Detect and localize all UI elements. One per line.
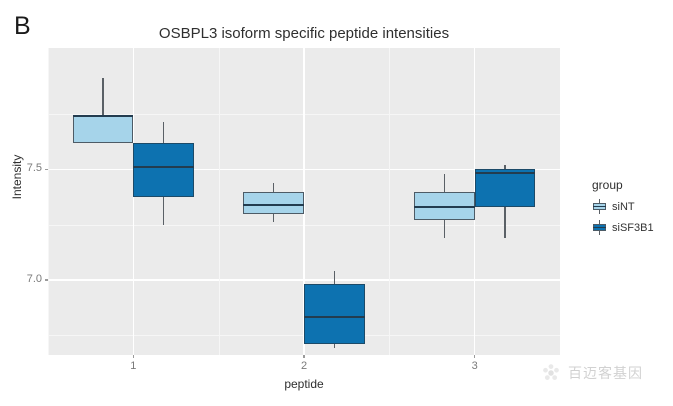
- boxplot-box: [133, 143, 194, 197]
- boxplot-median: [73, 115, 134, 117]
- y-tick-label: 7.5: [2, 162, 42, 174]
- figure-panel-b: B OSBPL3 isoform specific peptide intens…: [0, 0, 673, 406]
- boxplot-median: [475, 172, 536, 174]
- y-tick-mark: [45, 279, 48, 280]
- x-tick-mark: [133, 355, 134, 358]
- y-tick-mark: [45, 169, 48, 170]
- legend-items: siNTsiSF3B1: [592, 199, 672, 235]
- x-tick-label: 1: [113, 360, 153, 372]
- legend-key-icon: [592, 199, 607, 214]
- panel-letter: B: [14, 14, 31, 39]
- legend-key-icon: [592, 220, 607, 235]
- x-tick-label: 3: [455, 360, 495, 372]
- boxplot-median: [304, 316, 365, 318]
- flower-logo-icon: [540, 362, 562, 384]
- legend: group siNTsiSF3B1: [592, 178, 672, 241]
- y-tick-label: 7.0: [2, 273, 42, 285]
- boxplot-box: [243, 192, 304, 214]
- gridline-x-minor: [48, 48, 49, 355]
- legend-title: group: [592, 178, 672, 192]
- watermark: 百迈客基因: [540, 362, 643, 384]
- x-tick-mark: [474, 355, 475, 358]
- boxplot-box: [73, 115, 134, 143]
- x-tick-mark: [303, 355, 304, 358]
- legend-label: siNT: [612, 201, 635, 213]
- boxplot-median: [133, 166, 194, 168]
- boxplot-median: [414, 206, 475, 208]
- x-axis-title: peptide: [48, 377, 560, 391]
- boxplot-box: [475, 169, 536, 207]
- boxplot-box: [304, 284, 365, 344]
- chart-title: OSBPL3 isoform specific peptide intensit…: [48, 25, 560, 42]
- legend-item[interactable]: siSF3B1: [592, 220, 672, 235]
- legend-label: siSF3B1: [612, 222, 654, 234]
- boxplot-median: [243, 204, 304, 206]
- x-tick-label: 2: [284, 360, 324, 372]
- gridline-x-major: [133, 48, 134, 355]
- gridline-x-minor: [219, 48, 220, 355]
- gridline-x-minor: [389, 48, 390, 355]
- watermark-text: 百迈客基因: [568, 363, 643, 383]
- y-axis-title: Intensity: [10, 132, 24, 222]
- plot-panel: [48, 48, 560, 355]
- legend-item[interactable]: siNT: [592, 199, 672, 214]
